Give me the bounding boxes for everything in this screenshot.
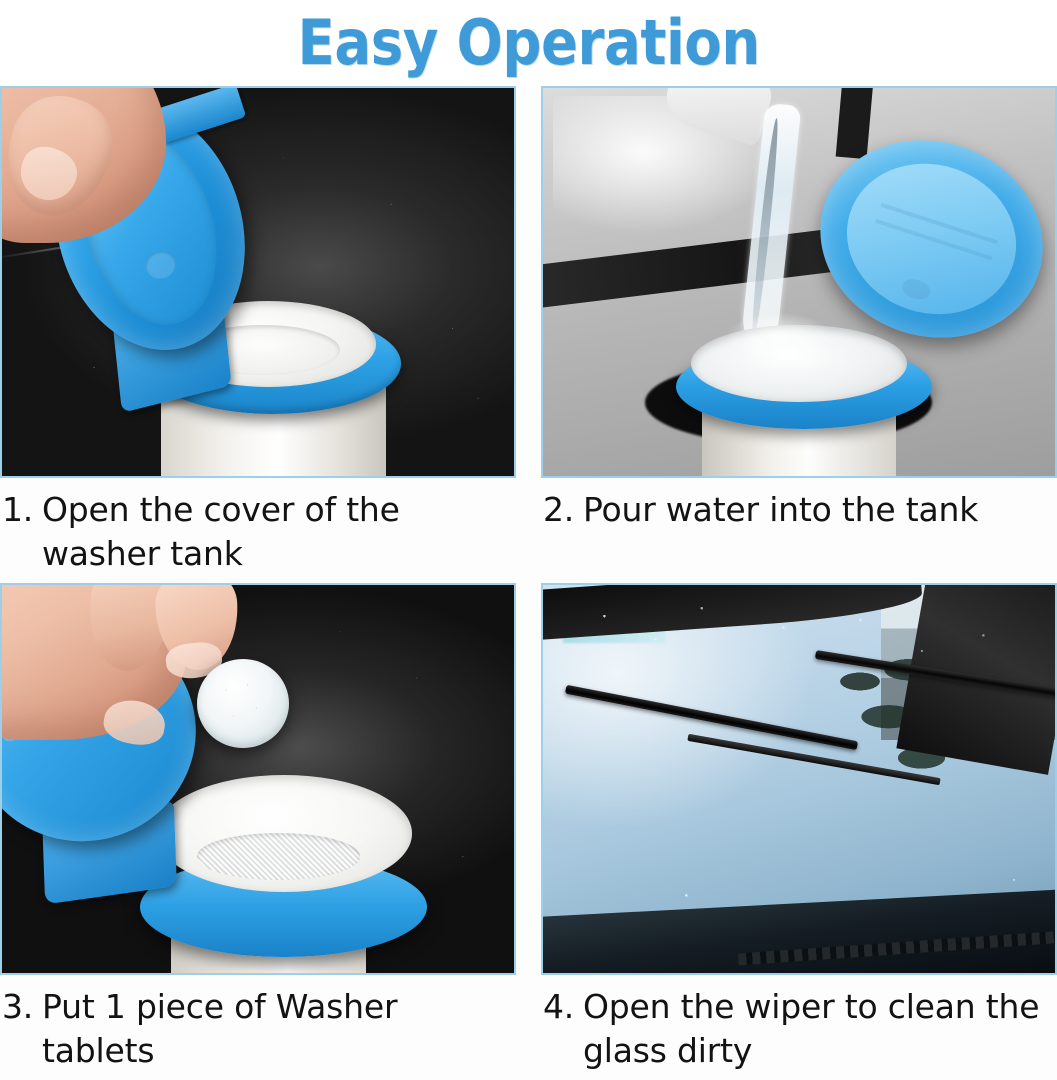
washer-tablet — [197, 659, 289, 748]
step-caption-1: 1. Open the cover of the washer tank — [0, 488, 516, 576]
photo-add-tablet — [2, 585, 514, 973]
step-card-3: 3. Put 1 piece of Washer tablets — [0, 583, 516, 1073]
step-caption-3: 3. Put 1 piece of Washer tablets — [0, 985, 516, 1073]
step-number-3: 3. — [2, 985, 33, 1029]
step-card-2: 2. Pour water into the tank — [541, 86, 1057, 532]
photo-clean-windshield — [543, 585, 1055, 973]
step-number-4: 4. — [543, 985, 574, 1029]
step-text-4: Open the wiper to clean the glass dirty — [583, 987, 1039, 1070]
step-caption-4: 4. Open the wiper to clean the glass dir… — [541, 985, 1057, 1073]
step-photo-3 — [0, 583, 516, 975]
header: Easy Operation — [0, 0, 1057, 86]
page-title: Easy Operation — [297, 12, 759, 74]
step-photo-4 — [541, 583, 1057, 975]
step-card-1: 1. Open the cover of the washer tank — [0, 86, 516, 576]
infographic-page: Easy Operation — [0, 0, 1057, 1080]
step-caption-2: 2. Pour water into the tank — [541, 488, 1057, 532]
step-number-1: 1. — [2, 488, 33, 532]
step-photo-1 — [0, 86, 516, 478]
step-card-4: 4. Open the wiper to clean the glass dir… — [541, 583, 1057, 1073]
step-number-2: 2. — [543, 488, 574, 532]
step-text-1: Open the cover of the washer tank — [42, 490, 400, 573]
photo-open-cover — [2, 88, 514, 476]
water-splash — [727, 313, 829, 360]
tank-filter-screen — [197, 833, 361, 880]
steps-grid: 1. Open the cover of the washer tank — [0, 86, 1057, 1080]
photo-pour-water — [543, 88, 1055, 476]
step-text-2: Pour water into the tank — [583, 490, 978, 529]
step-photo-2 — [541, 86, 1057, 478]
step-text-3: Put 1 piece of Washer tablets — [42, 987, 397, 1070]
